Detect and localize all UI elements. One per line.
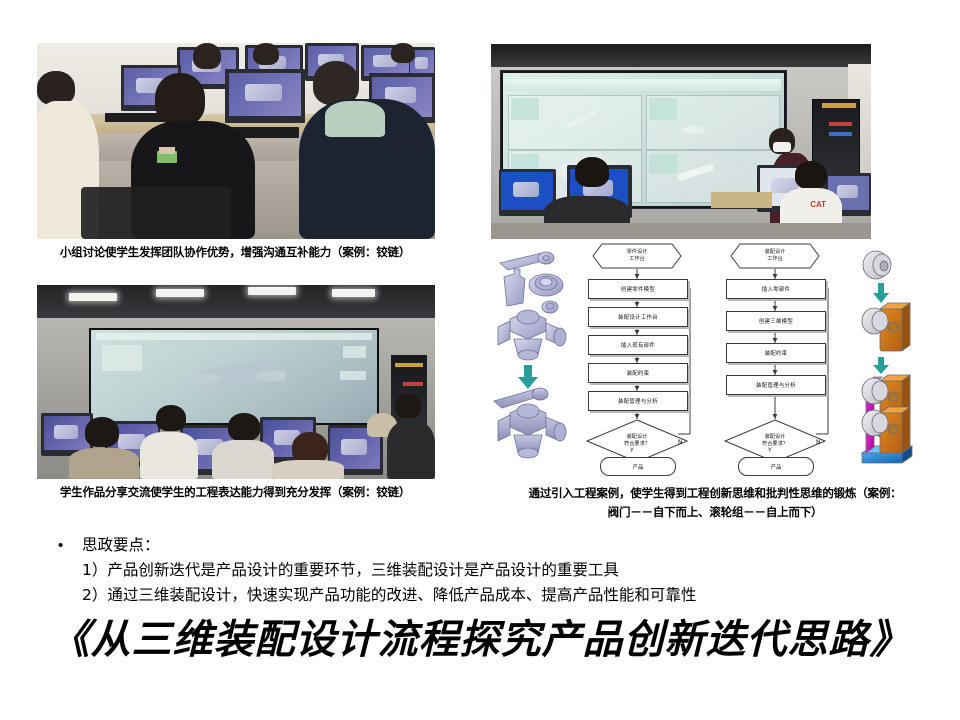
model-roller [838, 247, 926, 471]
bullets-block: • 思政要点： 1）产品创新迭代是产品设计的重要环节，三维装配设计是产品设计的重… [55, 533, 915, 608]
flowchart-assembly-design: 装配设计 工作台 插入零部件 创建三维模型 装配约束 装配管理与分析 装配设计 … [716, 243, 834, 475]
slide-canvas: 小组讨论使学生发挥团队协作优势，增强沟通互补能力（案例：铰链） [0, 0, 960, 720]
bullet-heading: 思政要点： [82, 533, 160, 558]
caption-line-2: 阀门－－自下而上、滚轮组－－自上而下） [608, 505, 823, 519]
caption-photo-classroom-proj: 通过引入工程案例，使学生得到工程创新思维和批判性思维的锻炼（案例： 阀门－－自下… [470, 484, 960, 522]
diagram-assembly-process: 零件设计 工作台 创建零件模型 装配设计工作台 插入现有部件 装配约束 装配管理… [478, 243, 928, 475]
page-title: 《从三维装配设计流程探究产品创新迭代思路》 [0, 612, 960, 668]
flow-step-assembly-management: 装配管理与分析 [726, 375, 826, 395]
photo-classroom-proj: CAT [491, 44, 871, 239]
flow-step-assembly-constraints: 装配约束 [588, 363, 688, 383]
caption-photo-classroom-students: 学生作品分享交流使学生的工程表达能力得到充分发挥（案例：铰链） [0, 484, 470, 501]
flow-start-part-design: 零件设计 工作台 [592, 243, 682, 269]
caption-photo-lab-group: 小组讨论使学生发挥团队协作优势，增强沟通互补能力（案例：铰链） [0, 244, 470, 261]
bullet-item-row: 2）通过三维装配设计，快速实现产品功能的改进、降低产品成本、提高产品性能和可靠性 [55, 583, 915, 608]
flow-end-product: 产品 [738, 457, 814, 476]
flow-start-line2: 工作台 [629, 256, 645, 263]
flow-decision-line2: 符合要求？ [624, 441, 650, 448]
flow-start-line1: 装配设计 [765, 249, 786, 256]
flow-end-product: 产品 [600, 457, 676, 476]
flow-step-assembly-workbench: 装配设计工作台 [588, 307, 688, 327]
photo-classroom-students [37, 285, 435, 479]
bullet-item-2: 2）通过三维装配设计，快速实现产品功能的改进、降低产品成本、提高产品性能和可靠性 [82, 583, 696, 608]
flow-step-insert-components: 插入零部件 [726, 279, 826, 299]
flow-label-no: N [816, 439, 821, 446]
flow-step-create-3d-model: 创建三维模型 [726, 311, 826, 331]
flow-decision-line1: 装配设计 [627, 434, 648, 441]
model-valve [480, 247, 576, 471]
flow-label-yes: Y [768, 447, 772, 454]
bullet-item-1: 1）产品创新迭代是产品设计的重要环节，三维装配设计是产品设计的重要工具 [82, 558, 619, 583]
flow-start-line2: 工作台 [767, 256, 783, 263]
flow-start-assembly-design: 装配设计 工作台 [730, 243, 820, 269]
flow-step-create-part-model: 创建零件模型 [588, 279, 688, 299]
photo-lab-group [37, 43, 435, 239]
bullet-item-row: 1）产品创新迭代是产品设计的重要环节，三维装配设计是产品设计的重要工具 [55, 558, 915, 583]
flow-label-yes: Y [630, 447, 634, 454]
flowchart-part-design: 零件设计 工作台 创建零件模型 装配设计工作台 插入现有部件 装配约束 装配管理… [578, 243, 696, 475]
flow-decision-line2: 符合要求？ [762, 441, 788, 448]
flow-step-assembly-management: 装配管理与分析 [588, 391, 688, 411]
flow-label-no: N [678, 439, 683, 446]
flow-step-assembly-constraints: 装配约束 [726, 343, 826, 363]
bullet-marker: • [55, 533, 82, 558]
flow-step-insert-existing-parts: 插入现有部件 [588, 335, 688, 355]
flow-decision-line1: 装配设计 [765, 434, 786, 441]
bullet-heading-row: • 思政要点： [55, 533, 915, 558]
caption-line-1: 通过引入工程案例，使学生得到工程创新思维和批判性思维的锻炼（案例： [529, 486, 902, 500]
flow-start-line1: 零件设计 [627, 249, 648, 256]
